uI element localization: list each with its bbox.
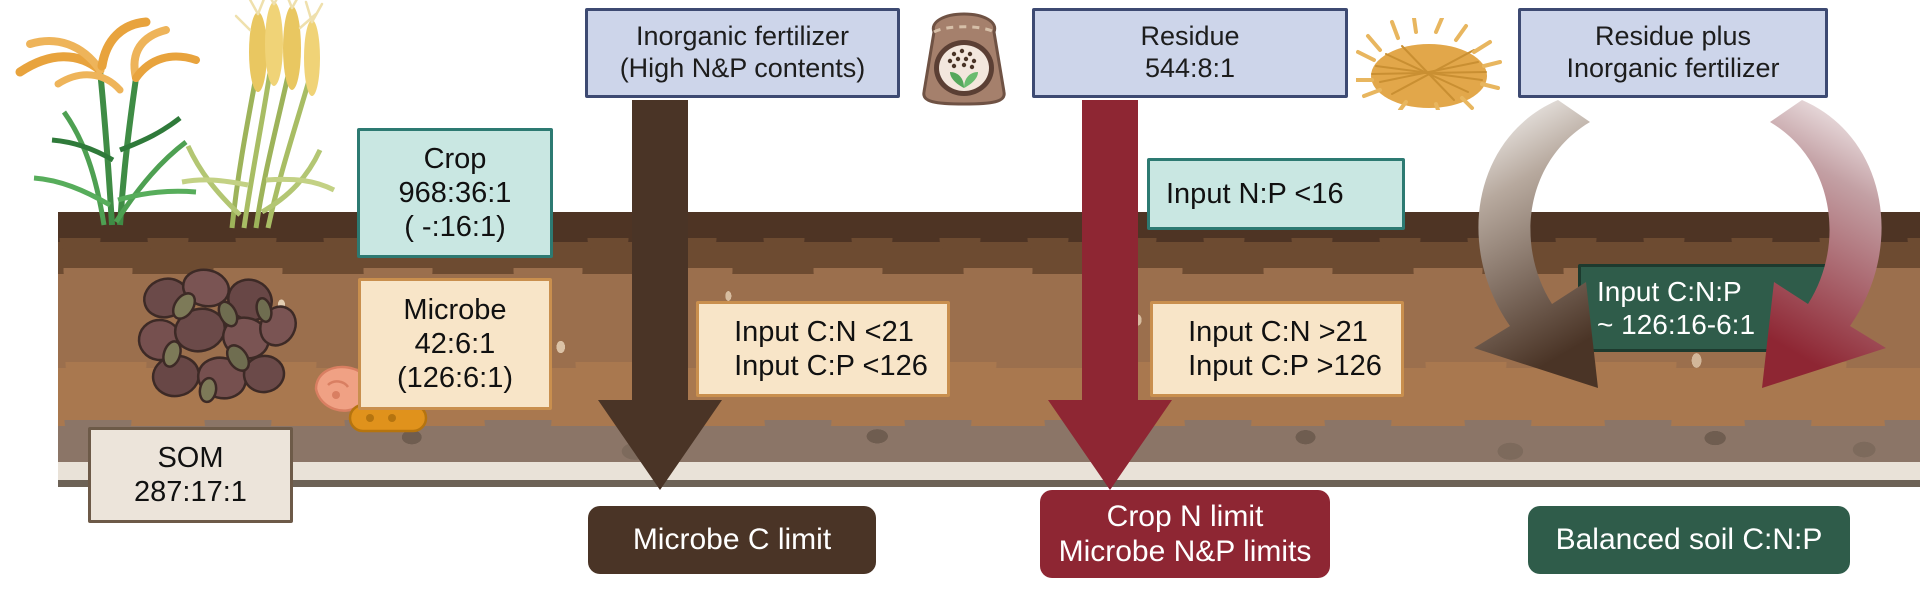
wheat-plant-icon (182, 0, 334, 228)
pool-box-microbe[interactable]: Microbe 42:6:1 (126:6:1) (358, 278, 552, 410)
header-box-inorganic-fertilizer[interactable]: Inorganic fertilizer (High N&P contents) (585, 8, 900, 98)
outcome-box-crop-n-limit[interactable]: Crop N limit Microbe N&P limits (1040, 490, 1330, 578)
arrow-curved-residue-plus-inorganic (1440, 96, 1920, 426)
outcome-box-balanced-soil[interactable]: Balanced soil C:N:P (1528, 506, 1850, 574)
soil-bedrock-line (58, 480, 1920, 487)
soil-aggregate-icon (132, 262, 300, 410)
pool-box-som[interactable]: SOM 287:17:1 (88, 427, 293, 523)
diagram-canvas: Inorganic fertilizer (High N&P contents)… (0, 0, 1920, 593)
rice-plant-icon (20, 22, 196, 225)
outcome-box-microbe-c-limit[interactable]: Microbe C limit (588, 506, 876, 574)
header-box-residue-plus-inorganic[interactable]: Residue plus Inorganic fertilizer (1518, 8, 1828, 98)
arrow-down-inorganic-fertilizer (580, 100, 740, 500)
header-box-residue[interactable]: Residue 544:8:1 (1032, 8, 1348, 98)
arrow-down-residue (1030, 100, 1190, 500)
pool-box-crop[interactable]: Crop 968:36:1 ( -:16:1) (357, 128, 553, 258)
fertilizer-bag-icon (912, 10, 1016, 106)
